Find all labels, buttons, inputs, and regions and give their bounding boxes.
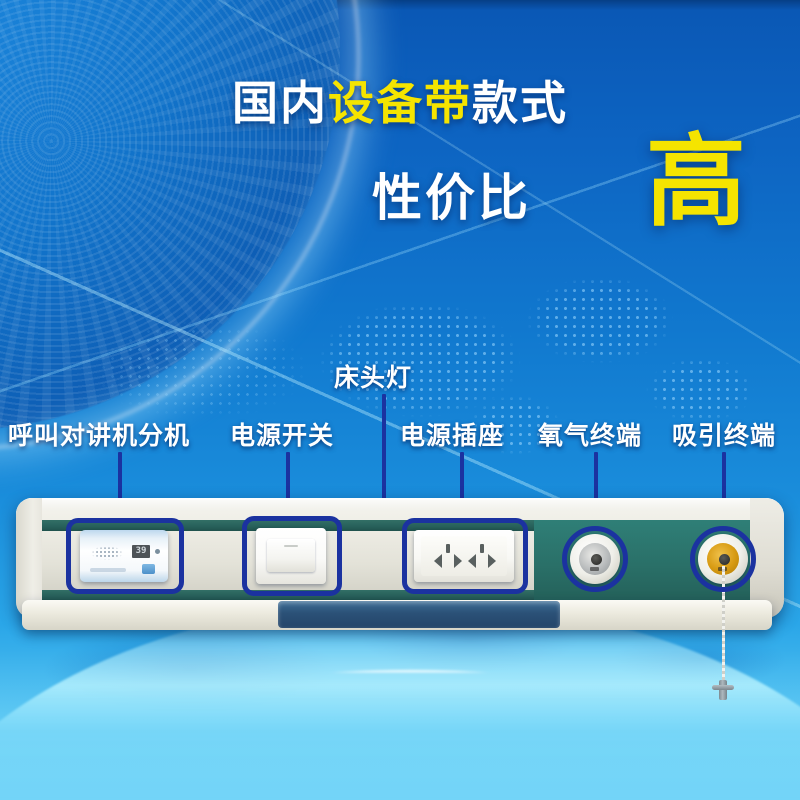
pull-cord-weight[interactable] xyxy=(712,680,734,700)
callout-label-nurse-call-intercom: 呼叫对讲机分机 xyxy=(8,416,190,452)
callout-label-bed-lamp: 床头灯 xyxy=(334,358,412,394)
callout-label-suction-terminal: 吸引终端 xyxy=(672,416,776,452)
highlight-box-nurse-call-intercom xyxy=(66,518,184,594)
cord-weight-body xyxy=(719,680,727,700)
highlight-box-power-switch xyxy=(242,516,342,596)
callout-label-oxygen-terminal: 氧气终端 xyxy=(538,416,642,452)
highlight-circle-suction-terminal xyxy=(690,526,756,592)
bed-lamp-lens[interactable] xyxy=(278,601,560,628)
highlight-circle-oxygen-terminal xyxy=(562,526,628,592)
panel-top-highlight xyxy=(16,498,784,512)
callout-label-power-socket: 电源插座 xyxy=(400,416,504,452)
highlight-box-power-socket xyxy=(402,518,528,594)
callout-label-power-switch: 电源开关 xyxy=(230,416,334,452)
cord-weight-arm xyxy=(712,685,734,690)
callout-layer: 呼叫对讲机分机 电源开关 床头灯 电源插座 氧气终端 吸引终端 xyxy=(0,0,800,800)
promo-banner: 国内设备带款式 性价比 高 呼叫对讲机分机 电源开关 床头灯 电源插座 氧气终端… xyxy=(0,0,800,800)
